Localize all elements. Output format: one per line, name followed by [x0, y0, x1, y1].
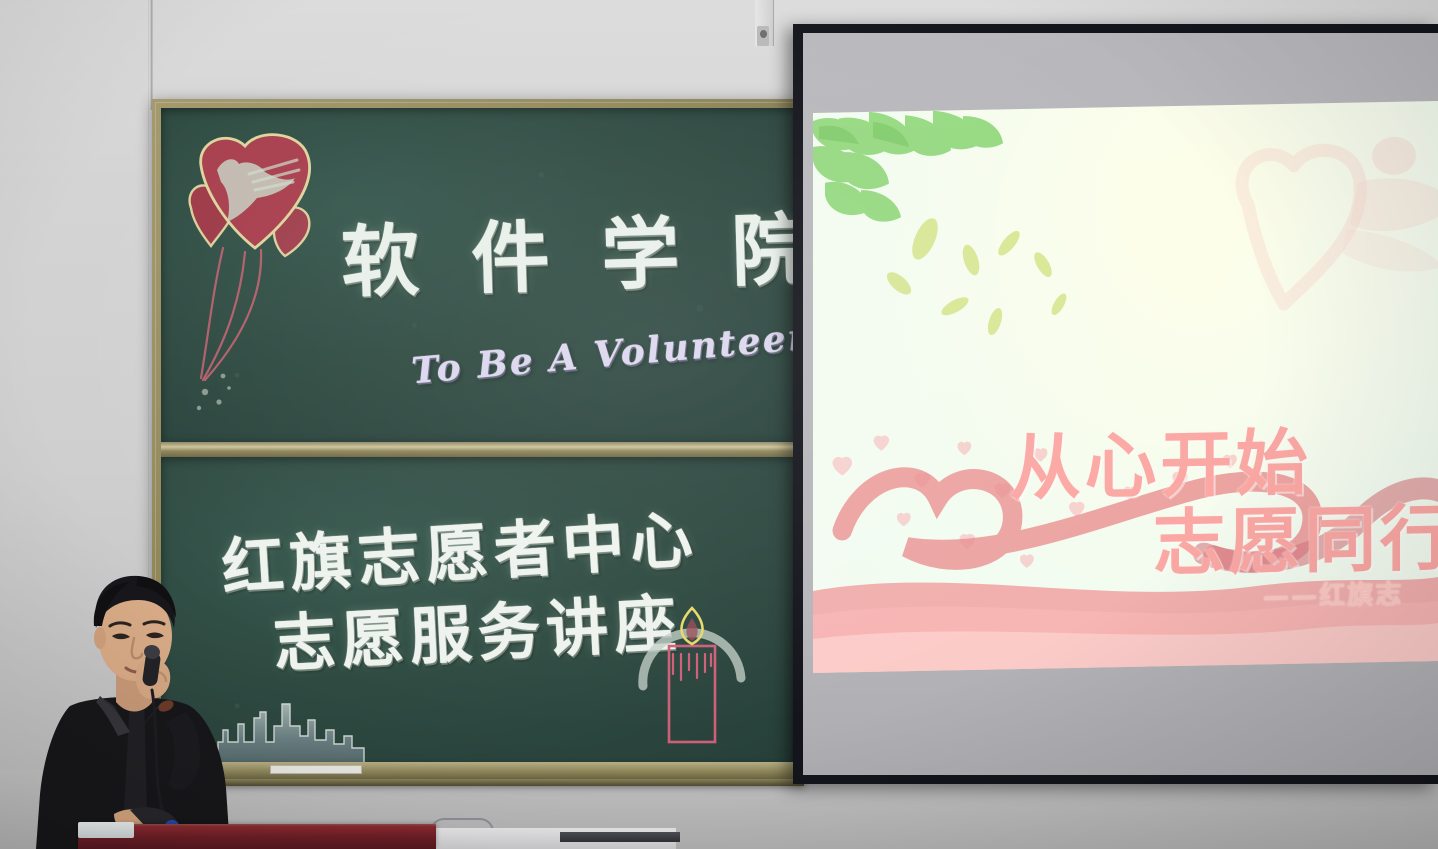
heart-balloons-drawing — [183, 130, 363, 420]
slide-subtitle: ——红旗志 — [1263, 574, 1403, 614]
blackboard-english-text: To Be A Volunteer — [410, 316, 795, 393]
blackboard-heading-text: 软 件 学 院 — [340, 187, 795, 312]
presenter-figure — [18, 556, 268, 849]
side-desk-dark-panel — [560, 832, 680, 842]
chalk-tray-label — [270, 765, 362, 774]
projection-screen-surface: 从心开始 志愿同行 ——红旗志 — [803, 33, 1438, 775]
classroom-photo: 软 件 学 院 To Be A Volunteer 红旗志愿者中心 志愿服务讲座 — [0, 0, 1438, 849]
projection-screen-bezel: 从心开始 志愿同行 ——红旗志 — [793, 24, 1438, 784]
wall-bracket-screw — [760, 30, 767, 38]
candle-drawing — [627, 574, 757, 744]
podium-white-object — [78, 822, 134, 838]
blackboard-divider-rail — [161, 442, 795, 457]
dove-heart-outline-motif — [1208, 111, 1438, 376]
presentation-slide: 从心开始 志愿同行 ——红旗志 — [813, 101, 1438, 673]
screen-blank-lower-area — [803, 655, 1438, 775]
blackboard-upper-panel: 软 件 学 院 To Be A Volunteer — [161, 108, 795, 442]
green-leaves-motif — [813, 107, 1113, 363]
wall-corner-seam — [150, 0, 153, 110]
